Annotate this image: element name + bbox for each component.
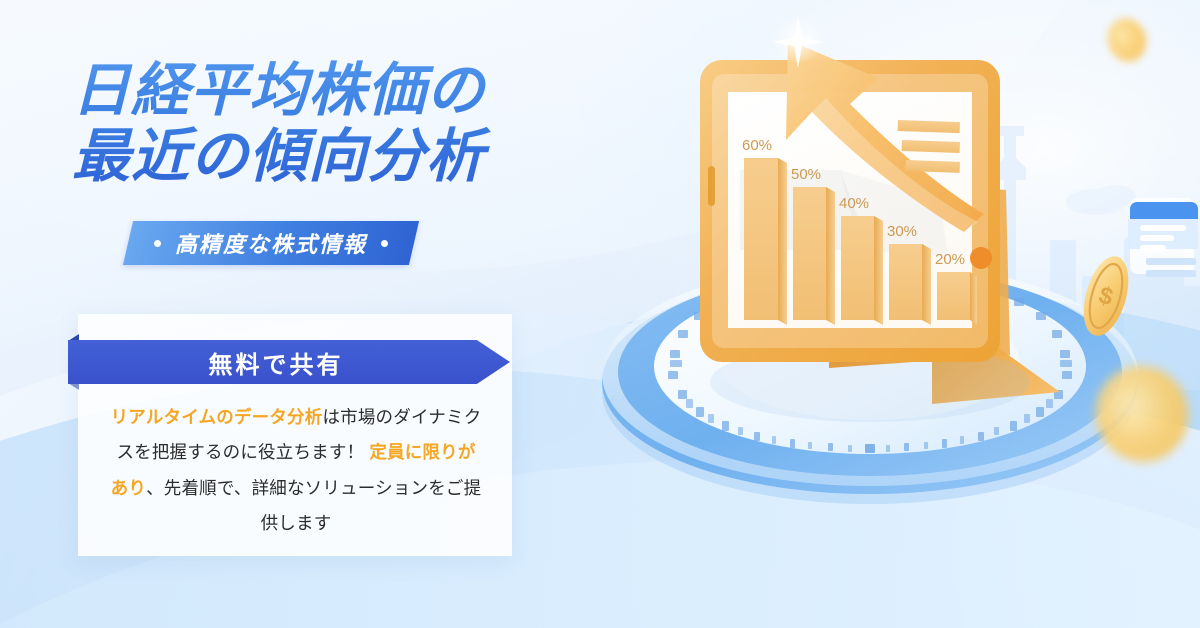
tablet-home-button <box>970 247 992 269</box>
svg-text:20%: 20% <box>935 251 965 268</box>
card-body-text: リアルタイムのデータ分析は市場のダイナミクスを把握するのに役立ちます！ 定員に限… <box>110 400 482 541</box>
subtitle-label: 高精度な株式情報 <box>175 227 367 259</box>
svg-text:50%: 50% <box>791 166 821 183</box>
svg-text:30%: 30% <box>887 223 917 240</box>
svg-text:60%: 60% <box>742 137 772 154</box>
legend-lines <box>898 120 960 173</box>
svg-text:40%: 40% <box>839 195 869 212</box>
page-title: 日経平均株価の 最近の傾向分析 <box>72 58 632 190</box>
share-ribbon-label: 無料で共有 <box>209 345 370 380</box>
hero-illustration: 60% 50% 40% 30% 20% <box>540 0 1200 628</box>
headline-line-1: 日経平均株価の <box>72 58 632 124</box>
tablet-device: 60% 50% 40% 30% 20% <box>700 16 1010 368</box>
tablet-dial-illustration: 60% 50% 40% 30% 20% <box>540 0 1200 628</box>
banner-stage: 60% 50% 40% 30% 20% <box>0 0 1200 628</box>
bullet-dot-right <box>381 240 388 247</box>
share-ribbon[interactable]: 無料で共有 <box>68 340 510 384</box>
bullet-dot-left <box>154 240 161 247</box>
tablet-speaker-slit <box>708 166 715 206</box>
body-segment-0: リアルタイムのデータ分析 <box>111 407 323 427</box>
body-segment-3: 、先着順で、詳細なソリューションをご提供します <box>146 478 481 533</box>
subtitle-ribbon: 高精度な株式情報 <box>123 221 419 265</box>
headline-line-2: 最近の傾向分析 <box>72 124 632 190</box>
